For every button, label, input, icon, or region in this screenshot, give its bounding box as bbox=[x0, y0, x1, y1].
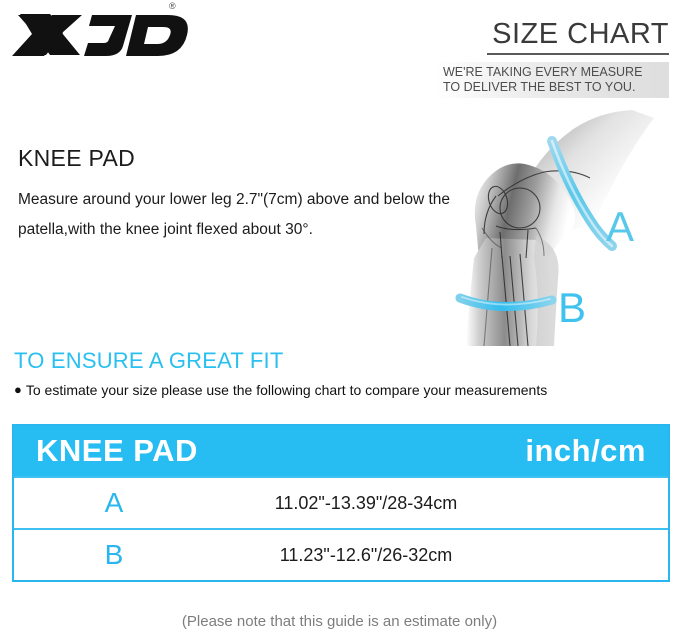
title-underline bbox=[487, 53, 669, 55]
bullet-icon: ● bbox=[14, 382, 22, 397]
row-value-a: 11.02"-13.39"/28-34cm bbox=[214, 493, 668, 514]
row-label-a: A bbox=[14, 487, 214, 519]
band-label-a-text: A bbox=[606, 203, 634, 250]
estimate-instruction-text: To estimate your size please use the fol… bbox=[26, 382, 547, 398]
page-header: ® SIZE CHART WE'RE TAKING EVERY MEASURE … bbox=[0, 0, 679, 112]
product-heading: KNEE PAD bbox=[18, 145, 135, 172]
size-chart-title: SIZE CHART bbox=[492, 18, 669, 51]
table-header-product: KNEE PAD bbox=[14, 433, 436, 469]
table-header-row: KNEE PAD inch/cm bbox=[14, 426, 668, 476]
row-value-b: 11.23"-12.6"/26-32cm bbox=[214, 545, 668, 566]
band-label-b-text: B bbox=[558, 284, 586, 331]
knee-anatomy-illustration: A B bbox=[440, 108, 679, 348]
tagline-line-2: TO DELIVER THE BEST TO YOU. bbox=[443, 80, 663, 95]
footer-disclaimer: (Please note that this guide is an estim… bbox=[0, 613, 679, 630]
size-table: KNEE PAD inch/cm A 11.02"-13.39"/28-34cm… bbox=[12, 424, 670, 582]
estimate-instruction: ●To estimate your size please use the fo… bbox=[14, 380, 614, 400]
xjd-brand-logo bbox=[8, 6, 198, 62]
size-chart-page: ® SIZE CHART WE'RE TAKING EVERY MEASURE … bbox=[0, 0, 679, 639]
table-row: B 11.23"-12.6"/26-32cm bbox=[14, 528, 668, 580]
tagline-banner: WE'RE TAKING EVERY MEASURE TO DELIVER TH… bbox=[435, 62, 669, 98]
product-description: Measure around your lower leg 2.7"(7cm) … bbox=[18, 185, 450, 245]
registered-trademark-icon: ® bbox=[169, 2, 176, 11]
table-header-unit: inch/cm bbox=[436, 433, 668, 469]
row-label-b: B bbox=[14, 539, 214, 571]
tagline-line-1: WE'RE TAKING EVERY MEASURE bbox=[443, 65, 663, 80]
great-fit-heading: TO ENSURE A GREAT FIT bbox=[14, 348, 283, 374]
table-row: A 11.02"-13.39"/28-34cm bbox=[14, 476, 668, 528]
